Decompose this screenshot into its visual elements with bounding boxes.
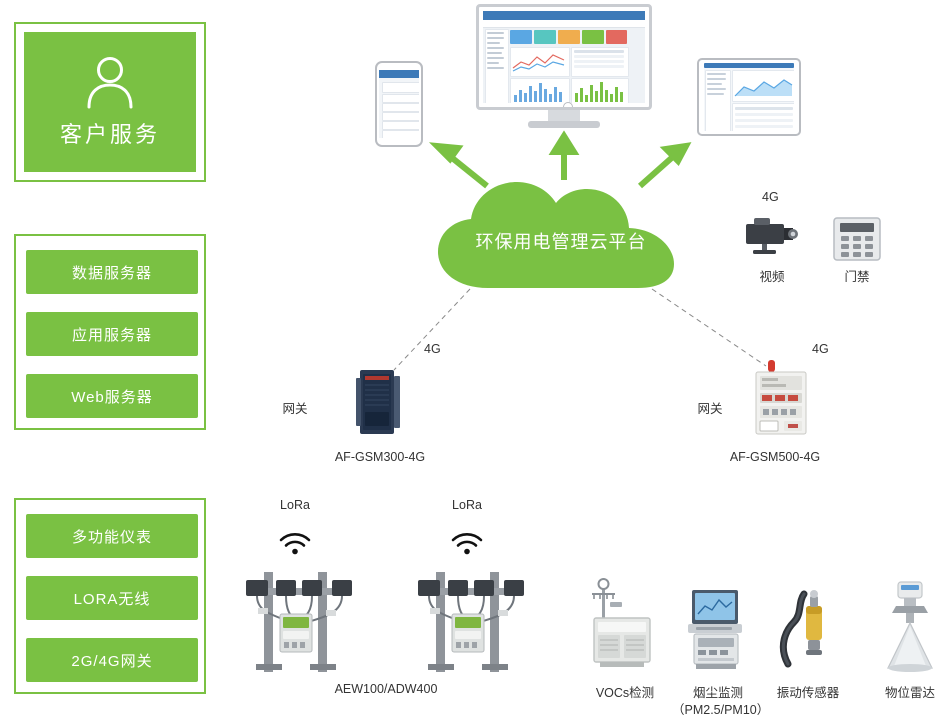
dashboard-subbar	[483, 20, 645, 28]
access-control-icon	[832, 216, 882, 262]
device-item-lora: LORA无线	[26, 576, 198, 620]
access-control-label: 门禁	[827, 266, 887, 285]
lora-group-2: LoRa	[437, 498, 497, 561]
monitor-base	[528, 121, 600, 128]
meter-rig-2	[412, 566, 532, 672]
sensor-label-dust-sub: （PM2.5/PM10）	[672, 699, 764, 718]
lora-group-1: LoRa	[265, 498, 325, 561]
gateway-af-gsm500	[752, 360, 810, 438]
tablet-screen	[704, 63, 794, 131]
gateway-af-gsm300	[356, 366, 404, 438]
monitor-screen	[483, 11, 645, 103]
sensor-label-vibration: 振动传感器	[768, 682, 848, 701]
dust-monitor-icon	[686, 586, 748, 672]
sensor-label-radar: 物位雷达	[870, 682, 944, 701]
level-radar-icon	[882, 580, 938, 672]
lora-label-2: LoRa	[437, 498, 497, 512]
vibration-sensor-icon	[776, 584, 840, 672]
gateway2-title: 网关	[690, 398, 730, 417]
dashboard-topbar	[483, 11, 645, 20]
panel-servers: 数据服务器 应用服务器 Web服务器	[14, 234, 206, 430]
gateway2-model: AF-GSM500-4G	[715, 450, 835, 464]
camera-4g-label: 4G	[762, 190, 779, 204]
phone-body	[375, 61, 423, 147]
device-item-meter: 多功能仪表	[26, 514, 198, 558]
gateway1-title: 网关	[275, 398, 315, 417]
diagram-canvas: 客户服务 数据服务器 应用服务器 Web服务器 多功能仪表 LORA无线 2G/…	[0, 0, 944, 722]
camera-icon	[740, 216, 804, 260]
panel-field-devices: 多功能仪表 LORA无线 2G/4G网关	[14, 498, 206, 694]
server-item-data: 数据服务器	[26, 250, 198, 294]
tablet	[697, 58, 801, 136]
device-item-gateway: 2G/4G网关	[26, 638, 198, 682]
cloud-platform: 环保用电管理云平台	[430, 176, 692, 298]
cloud-platform-label: 环保用电管理云平台	[430, 228, 692, 254]
server-item-app: 应用服务器	[26, 312, 198, 356]
customer-service-cell: 客户服务	[24, 32, 196, 172]
sensor-label-aew: AEW100/ADW400	[326, 682, 446, 696]
monitor-power-indicator	[563, 102, 573, 110]
phone-app-header	[379, 70, 419, 78]
person-icon	[83, 55, 137, 111]
monitor-body	[476, 4, 652, 110]
phone-screen	[379, 70, 419, 138]
meter-rig-1	[240, 566, 360, 672]
lora-label-1: LoRa	[265, 498, 325, 512]
gateway1-4g-label: 4G	[424, 342, 441, 356]
camera-label: 视频	[742, 266, 802, 285]
wifi-icon	[278, 530, 312, 556]
gateway2-4g-label: 4G	[812, 342, 829, 356]
wifi-icon	[450, 530, 484, 556]
smartphone	[375, 61, 423, 147]
panel-customer-service: 客户服务	[14, 22, 206, 182]
vocs-detector-icon	[588, 572, 660, 672]
server-item-web: Web服务器	[26, 374, 198, 418]
gateway1-model: AF-GSM300-4G	[320, 450, 440, 464]
customer-service-label: 客户服务	[60, 117, 160, 149]
desktop-monitor	[476, 4, 652, 136]
sensor-label-vocs: VOCs检测	[585, 682, 665, 701]
tablet-body	[697, 58, 801, 136]
